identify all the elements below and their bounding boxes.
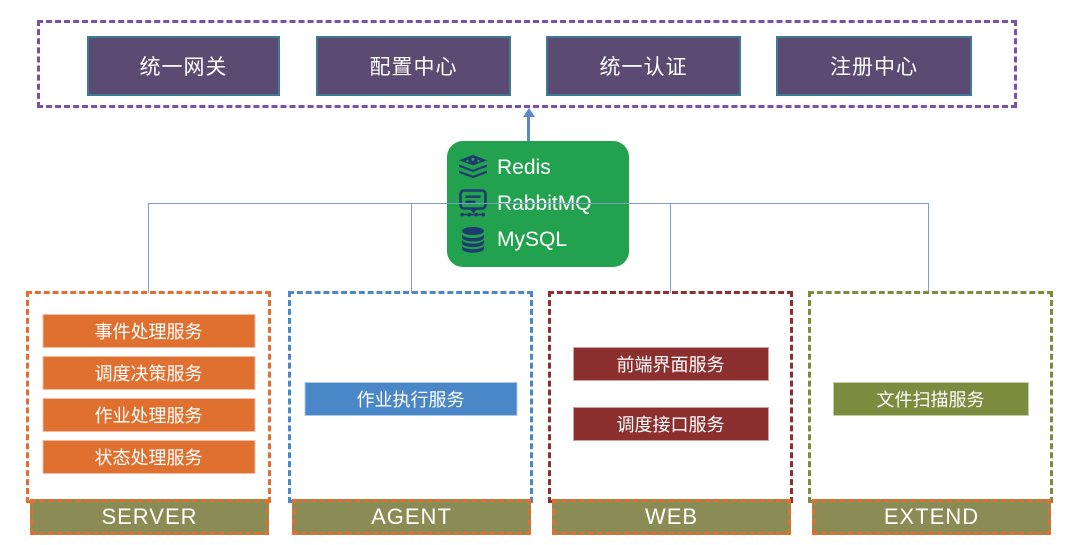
column-web[interactable]: 前端界面服务 调度接口服务	[548, 291, 793, 503]
column-label-server: SERVER	[30, 499, 269, 535]
service-label: 调度接口服务	[617, 411, 725, 437]
middleware-item-rabbitmq: RabbitMQ	[455, 186, 629, 222]
service-label: 作业执行服务	[357, 386, 465, 412]
column-label-extend: EXTEND	[812, 499, 1051, 535]
service-box[interactable]: 作业处理服务	[42, 398, 255, 432]
gateway-box-config-center[interactable]: 配置中心	[316, 36, 511, 96]
connector-drop-agent	[411, 203, 412, 293]
column-label-text: EXTEND	[884, 504, 979, 530]
gateway-box-unified-auth[interactable]: 统一认证	[546, 36, 741, 96]
middleware-item-label: MySQL	[497, 228, 567, 252]
column-server[interactable]: 事件处理服务 调度决策服务 作业处理服务 状态处理服务	[26, 291, 271, 503]
architecture-diagram: 统一网关 配置中心 统一认证 注册中心	[0, 0, 1080, 545]
column-label-text: SERVER	[101, 504, 197, 530]
middleware-item-label: Redis	[497, 156, 551, 180]
service-box[interactable]: 状态处理服务	[42, 440, 255, 474]
connector-drop-web	[670, 203, 671, 293]
gateway-box-label: 统一网关	[140, 51, 228, 81]
redis-stack-icon	[455, 152, 491, 184]
gateway-box-registry-center[interactable]: 注册中心	[776, 36, 972, 96]
column-label-text: WEB	[645, 504, 698, 530]
gateway-band: 统一网关 配置中心 统一认证 注册中心	[37, 20, 1017, 108]
gateway-box-unified-gateway[interactable]: 统一网关	[87, 36, 280, 96]
column-label-text: AGENT	[371, 504, 452, 530]
middleware-box[interactable]: Redis	[447, 141, 629, 267]
middleware-item-label: RabbitMQ	[497, 192, 592, 216]
service-label: 前端界面服务	[617, 351, 725, 377]
service-label: 作业处理服务	[95, 402, 203, 428]
service-label: 状态处理服务	[95, 444, 203, 470]
mysql-database-icon	[455, 224, 491, 256]
service-box[interactable]: 文件扫描服务	[833, 382, 1029, 416]
gateway-box-label: 统一认证	[600, 51, 688, 81]
connector-drop-server	[148, 203, 149, 293]
middleware-item-redis: Redis	[455, 150, 629, 186]
service-box[interactable]: 前端界面服务	[573, 347, 769, 381]
connector-drop-extend	[928, 203, 929, 293]
middleware-item-mysql: MySQL	[455, 222, 629, 258]
rabbitmq-message-icon	[455, 188, 491, 220]
column-label-web: WEB	[552, 499, 791, 535]
gateway-box-label: 配置中心	[370, 51, 458, 81]
gateway-box-label: 注册中心	[830, 51, 918, 81]
service-label: 事件处理服务	[95, 318, 203, 344]
column-label-agent: AGENT	[292, 499, 531, 535]
service-box[interactable]: 调度接口服务	[573, 407, 769, 441]
service-label: 调度决策服务	[95, 360, 203, 386]
service-label: 文件扫描服务	[877, 386, 985, 412]
column-agent[interactable]: 作业执行服务	[288, 291, 533, 503]
service-box[interactable]: 事件处理服务	[42, 314, 255, 348]
connector-horizontal-bus	[148, 203, 929, 204]
arrow-head-middleware-to-gateway	[523, 108, 535, 117]
column-extend[interactable]: 文件扫描服务	[808, 291, 1053, 503]
service-box[interactable]: 调度决策服务	[42, 356, 255, 390]
service-box[interactable]: 作业执行服务	[304, 382, 517, 416]
